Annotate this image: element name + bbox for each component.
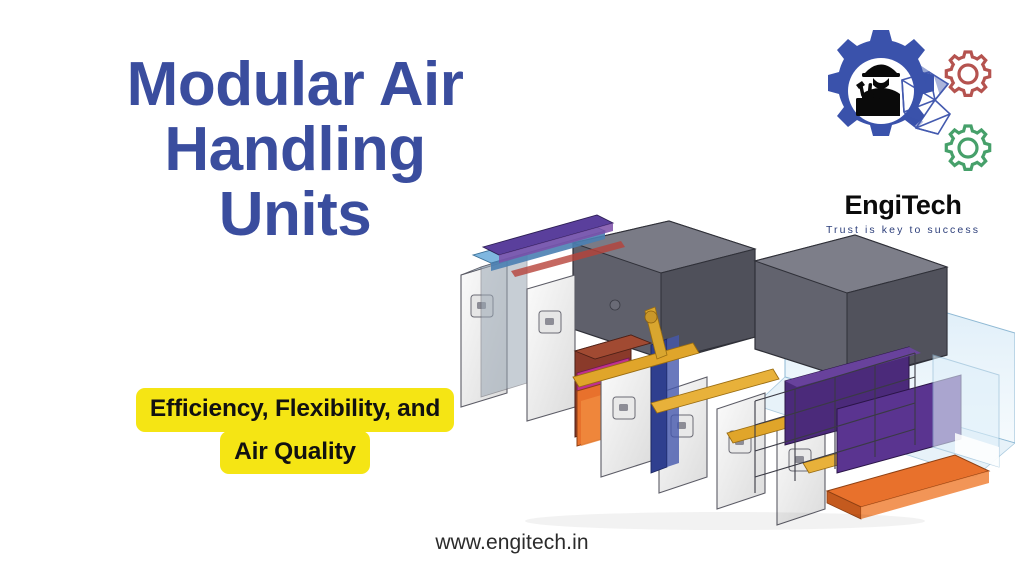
- subtitle-chip-2: Air Quality: [220, 431, 370, 475]
- logo-mark: [798, 22, 1008, 174]
- end-glass-wall: [933, 355, 999, 467]
- casing-modules-left: [461, 253, 575, 421]
- title-line-2: Handling: [60, 117, 530, 182]
- poster-canvas: Modular Air Handling Units Efficiency, F…: [0, 0, 1024, 576]
- subtitle-chip-1: Efficiency, Flexibility, and: [136, 388, 454, 432]
- red-gear-icon: [946, 52, 989, 95]
- render-shadow: [525, 512, 925, 530]
- title-line-1: Modular Air: [60, 52, 530, 117]
- brand-logo[interactable]: EngiTech Trust is key to success: [798, 22, 1008, 222]
- ahu-3d-render: [455, 205, 1015, 535]
- green-gear-icon: [946, 126, 989, 169]
